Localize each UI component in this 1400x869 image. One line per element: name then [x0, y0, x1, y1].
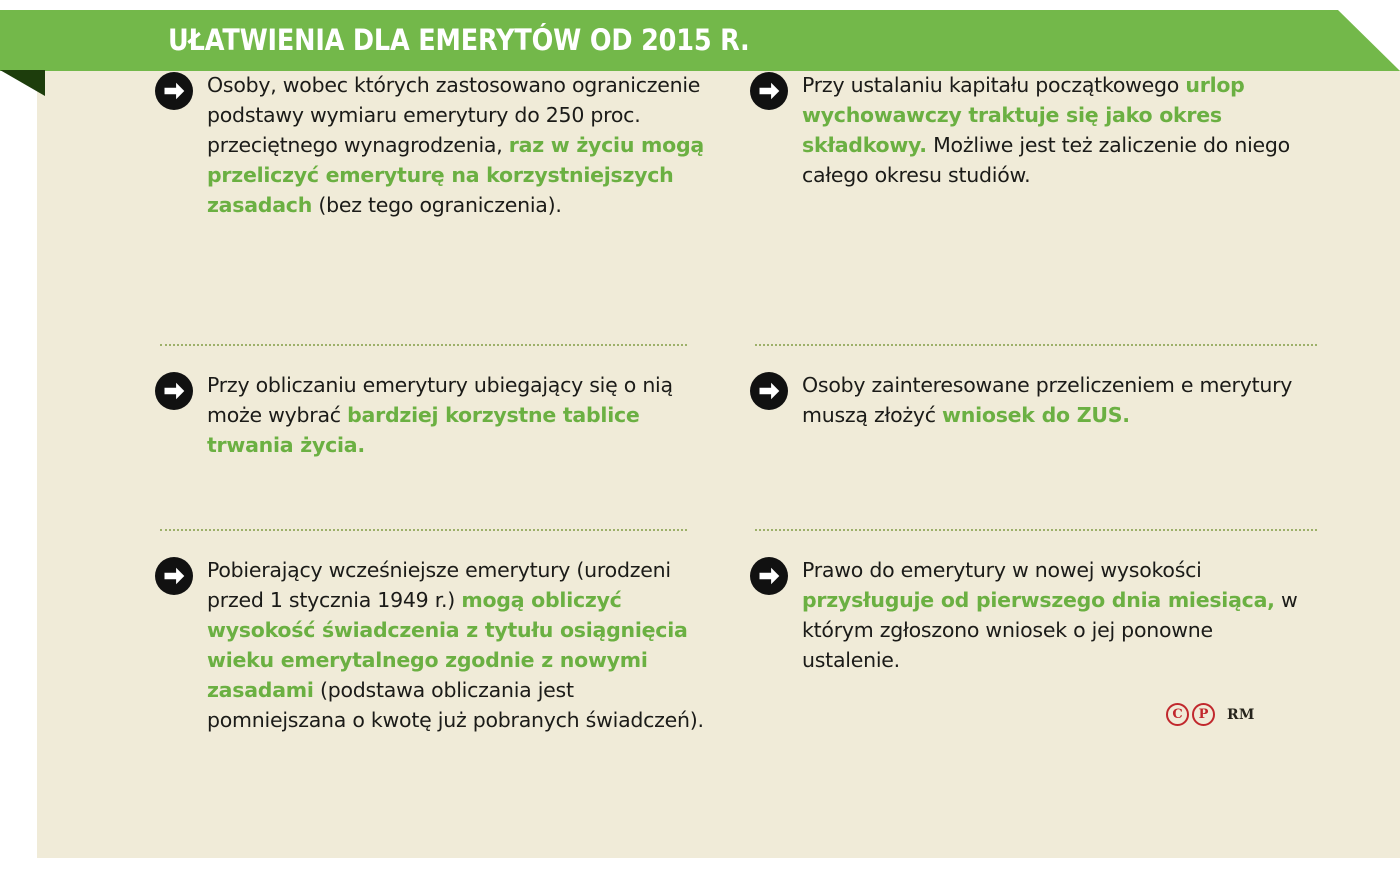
plain-phrase: Prawo do emerytury w nowej wysokości — [802, 558, 1202, 582]
bullet-row: Prawo do emerytury w nowej wysokości prz… — [750, 555, 1302, 675]
arrow-right-circle-icon — [750, 372, 788, 410]
arrow-right-circle-icon — [155, 72, 193, 110]
copyright-mark: C P RM — [1166, 703, 1255, 726]
bullet-item: Pobierający wcześniejsze emerytury (urod… — [155, 555, 707, 735]
divider-left-1 — [160, 344, 687, 346]
bullet-item: Przy ustalaniu kapitału początkowego url… — [750, 70, 1302, 190]
copyright-icon: C — [1166, 703, 1189, 726]
header-banner: UŁATWIENIA DLA EMERYTÓW OD 2015 R. — [0, 10, 1400, 71]
bullet-row: Osoby zainteresowane przeliczeniem e mer… — [750, 370, 1302, 430]
arrow-right-circle-icon — [750, 557, 788, 595]
highlighted-phrase: wniosek do ZUS. — [942, 403, 1130, 427]
bullet-text: Pobierający wcześniejsze emerytury (urod… — [207, 555, 707, 735]
divider-right-1 — [755, 344, 1317, 346]
bullet-item: Osoby zainteresowane przeliczeniem e mer… — [750, 370, 1302, 430]
author-initials: RM — [1227, 707, 1255, 723]
arrow-right-circle-icon — [155, 372, 193, 410]
bullet-text: Przy ustalaniu kapitału początkowego url… — [802, 70, 1302, 190]
folded-corner-decoration — [0, 70, 45, 96]
page-title: UŁATWIENIA DLA EMERYTÓW OD 2015 R. — [168, 23, 750, 57]
bullet-text: Osoby zainteresowane przeliczeniem e mer… — [802, 370, 1302, 430]
bullet-item: Osoby, wobec których zastosowano ogranic… — [155, 70, 707, 220]
infographic-root: UŁATWIENIA DLA EMERYTÓW OD 2015 R. Osoby… — [0, 0, 1400, 869]
divider-left-2 — [160, 529, 687, 531]
bullet-text: Przy obliczaniu emerytury ubiegający się… — [207, 370, 707, 460]
bullet-text: Osoby, wobec których zastosowano ogranic… — [207, 70, 707, 220]
arrow-right-circle-icon — [750, 72, 788, 110]
phonogram-icon: P — [1192, 703, 1215, 726]
bullet-text: Prawo do emerytury w nowej wysokości prz… — [802, 555, 1302, 675]
plain-phrase: Przy ustalaniu kapitału początkowego — [802, 73, 1185, 97]
highlighted-phrase: przysługuje od pierwszego dnia miesiąca, — [802, 588, 1275, 612]
bullet-row: Przy obliczaniu emerytury ubiegający się… — [155, 370, 707, 460]
plain-phrase: (bez tego ograniczenia). — [312, 193, 562, 217]
bullet-row: Przy ustalaniu kapitału początkowego url… — [750, 70, 1302, 190]
bullet-row: Pobierający wcześniejsze emerytury (urod… — [155, 555, 707, 735]
bullet-item: Prawo do emerytury w nowej wysokości prz… — [750, 555, 1302, 675]
divider-right-2 — [755, 529, 1317, 531]
bullet-row: Osoby, wobec których zastosowano ogranic… — [155, 70, 707, 220]
arrow-right-circle-icon — [155, 557, 193, 595]
bullet-item: Przy obliczaniu emerytury ubiegający się… — [155, 370, 707, 460]
